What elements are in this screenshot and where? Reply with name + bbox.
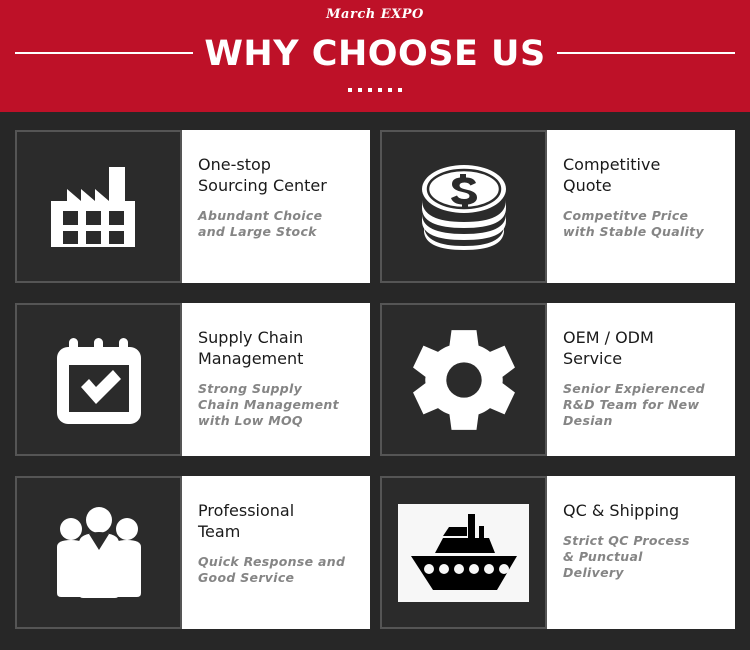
ship-icon [405,512,523,594]
card-text-panel: Supply Chain Management Strong Supply Ch… [182,303,370,456]
dot [368,88,372,92]
icon-panel [15,130,182,283]
card-title: QC & Shipping [563,500,721,521]
icon-panel [15,476,182,629]
coin-stack-icon [414,164,514,250]
expo-label: March EXPO [0,7,750,22]
factory-icon [51,167,147,247]
card-subtitle: Quick Response and Good Service [198,554,356,586]
icon-panel [380,130,547,283]
dot [358,88,362,92]
ship-icon-plate [398,504,529,602]
feature-card[interactable]: OEM / ODM Service Senior Expierenced R&D… [380,303,735,456]
card-text-panel: Competitive Quote Competitve Price with … [547,130,735,283]
card-subtitle: Strict QC Process & Punctual Delivery [563,533,721,581]
card-text-panel: Professional Team Quick Response and Goo… [182,476,370,629]
dot [398,88,402,92]
title-row: WHY CHOOSE US [0,33,750,75]
decorative-dots [0,88,750,92]
card-subtitle: Senior Expierenced R&D Team for New Desi… [563,381,721,429]
card-text-panel: OEM / ODM Service Senior Expierenced R&D… [547,303,735,456]
gear-icon [412,328,516,432]
card-subtitle: Abundant Choice and Large Stock [198,208,356,240]
calendar-check-icon [53,334,145,426]
page-title: WHY CHOOSE US [0,33,750,75]
card-title: Competitive Quote [563,154,721,196]
card-title: Professional Team [198,500,356,542]
feature-card[interactable]: Professional Team Quick Response and Goo… [15,476,370,629]
dot [348,88,352,92]
feature-card[interactable]: QC & Shipping Strict QC Process & Punctu… [380,476,735,629]
icon-panel [15,303,182,456]
feature-card[interactable]: One-stop Sourcing Center Abundant Choice… [15,130,370,283]
dot [388,88,392,92]
card-title: One-stop Sourcing Center [198,154,356,196]
card-title: Supply Chain Management [198,327,356,369]
card-subtitle: Strong Supply Chain Management with Low … [198,381,356,429]
card-text-panel: One-stop Sourcing Center Abundant Choice… [182,130,370,283]
card-title: OEM / ODM Service [563,327,721,369]
page-header: March EXPO WHY CHOOSE US [0,0,750,112]
feature-card[interactable]: Supply Chain Management Strong Supply Ch… [15,303,370,456]
title-rule-right [557,52,735,54]
feature-card[interactable]: Competitive Quote Competitve Price with … [380,130,735,283]
card-subtitle: Competitve Price with Stable Quality [563,208,721,240]
card-text-panel: QC & Shipping Strict QC Process & Punctu… [547,476,735,629]
icon-panel [380,303,547,456]
icon-panel [380,476,547,629]
team-people-icon [49,503,149,603]
dot [378,88,382,92]
feature-grid: One-stop Sourcing Center Abundant Choice… [0,112,750,644]
